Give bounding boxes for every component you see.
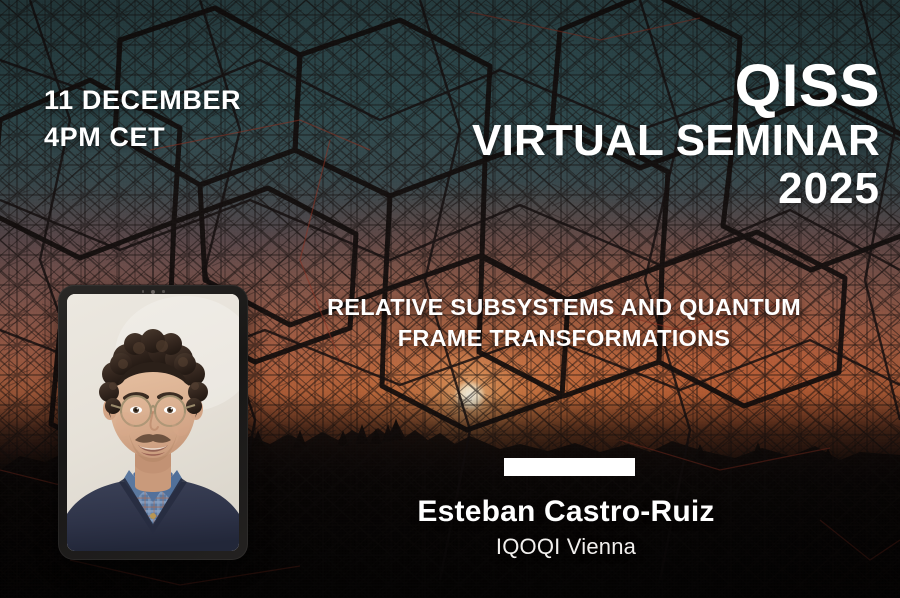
speaker-block: Esteban Castro-Ruiz IQOQI Vienna [250, 495, 882, 560]
brand-qiss: QISS [472, 57, 880, 116]
seminar-poster: 11 DECEMBER 4PM CET QISS VIRTUAL SEMINAR… [0, 0, 900, 598]
avatar [67, 294, 239, 551]
brand-virtual-seminar: VIRTUAL SEMINAR [472, 116, 880, 165]
seminar-date: 11 DECEMBER [44, 82, 241, 119]
datetime-block: 11 DECEMBER 4PM CET [44, 82, 241, 157]
speaker-name: Esteban Castro-Ruiz [250, 495, 882, 530]
speaker-divider [504, 458, 635, 476]
talk-title-line-2: FRAME TRANSFORMATIONS [250, 323, 878, 354]
seminar-time: 4PM CET [44, 119, 241, 156]
speaker-affiliation: IQOQI Vienna [250, 534, 882, 560]
brand-heading: QISS VIRTUAL SEMINAR 2025 [472, 57, 880, 213]
portrait-screen [67, 294, 239, 551]
talk-title: RELATIVE SUBSYSTEMS AND QUANTUM FRAME TR… [250, 292, 878, 354]
brand-year: 2025 [472, 166, 880, 213]
portrait-frame [58, 285, 248, 560]
talk-title-line-1: RELATIVE SUBSYSTEMS AND QUANTUM [250, 292, 878, 323]
